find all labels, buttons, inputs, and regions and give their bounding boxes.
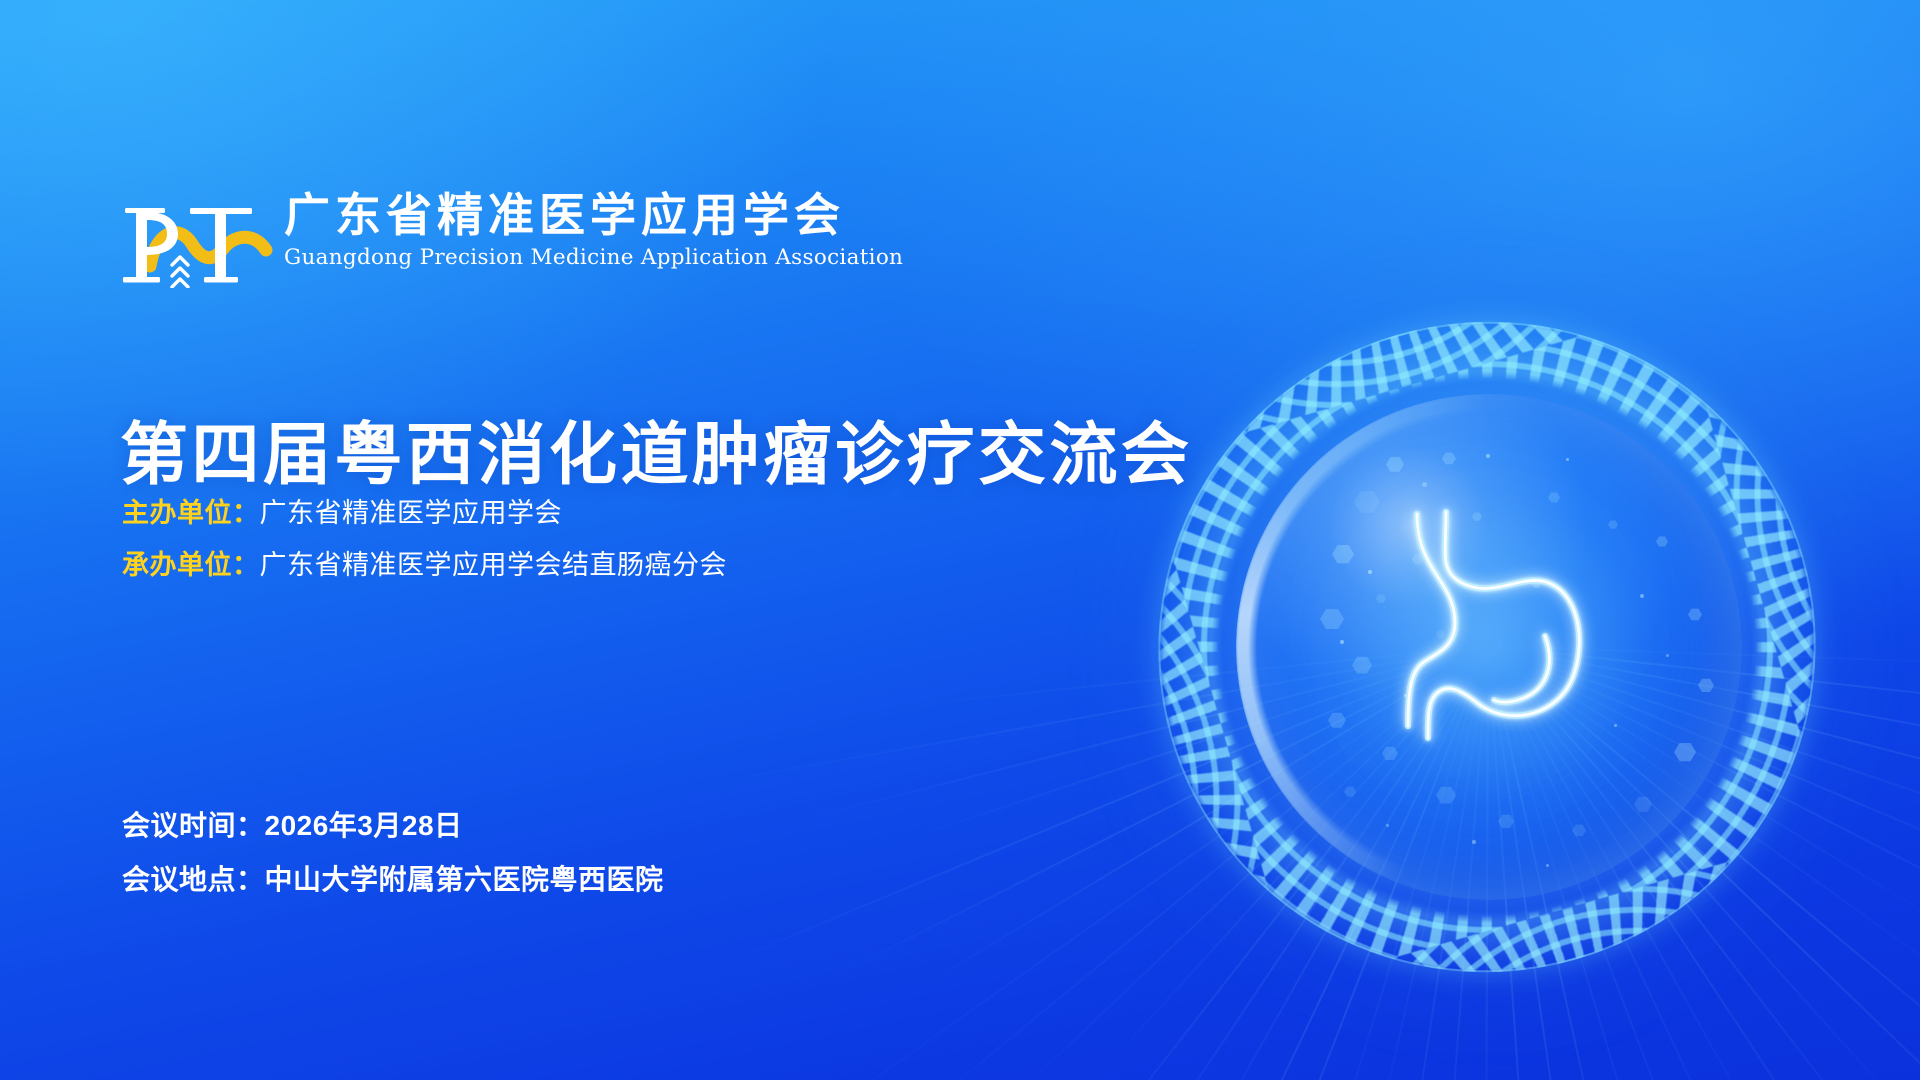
- meeting-info-block: 会议时间： 2026年3月28日 会议地点： 中山大学附属第六医院粤西医院: [122, 812, 664, 920]
- organizer-value-undertaker: 广东省精准医学应用学会结直肠癌分会: [260, 552, 728, 579]
- light-dot: [1566, 458, 1569, 461]
- glowing-sphere: [1192, 352, 1782, 942]
- organizer-label-host: 主办单位：: [122, 500, 260, 527]
- organizer-label-undertaker: 承办单位：: [122, 552, 260, 579]
- meeting-value-venue: 中山大学附属第六医院粤西医院: [265, 866, 664, 894]
- logo-chinese-name: 广东省精准医学应用学会: [284, 192, 903, 240]
- meeting-label-time: 会议时间：: [122, 812, 265, 840]
- light-dot: [1666, 654, 1669, 657]
- logo-english-name: Guangdong Precision Medicine Application…: [284, 245, 903, 270]
- organizer-block: 主办单位： 广东省精准医学应用学会 承办单位： 广东省精准医学应用学会结直肠癌分…: [122, 500, 727, 604]
- organizer-value-host: 广东省精准医学应用学会: [260, 500, 563, 527]
- organizer-row-undertaker: 承办单位： 广东省精准医学应用学会结直肠癌分会: [122, 552, 727, 579]
- conference-poster: 广东省精准医学应用学会 Guangdong Precision Medicine…: [0, 0, 1920, 1080]
- meeting-row-time: 会议时间： 2026年3月28日: [122, 812, 664, 840]
- meeting-row-venue: 会议地点： 中山大学附属第六医院粤西医院: [122, 866, 664, 894]
- page-title: 第四届粤西消化道肿瘤诊疗交流会: [120, 421, 1193, 489]
- light-dot: [1386, 824, 1389, 827]
- gpmaa-logo-mark-icon: [120, 192, 278, 288]
- organizer-row-host: 主办单位： 广东省精准医学应用学会: [122, 500, 727, 527]
- content-column: 广东省精准医学应用学会 Guangdong Precision Medicine…: [120, 0, 1240, 1080]
- light-dot: [1546, 864, 1549, 867]
- light-dot: [1486, 454, 1490, 458]
- meeting-label-venue: 会议地点：: [122, 866, 265, 894]
- meeting-value-time: 2026年3月28日: [265, 812, 463, 840]
- stomach-icon: [1342, 470, 1642, 770]
- light-dot: [1472, 840, 1476, 844]
- association-logo: 广东省精准医学应用学会 Guangdong Precision Medicine…: [120, 190, 903, 288]
- logo-text-block: 广东省精准医学应用学会 Guangdong Precision Medicine…: [284, 190, 903, 270]
